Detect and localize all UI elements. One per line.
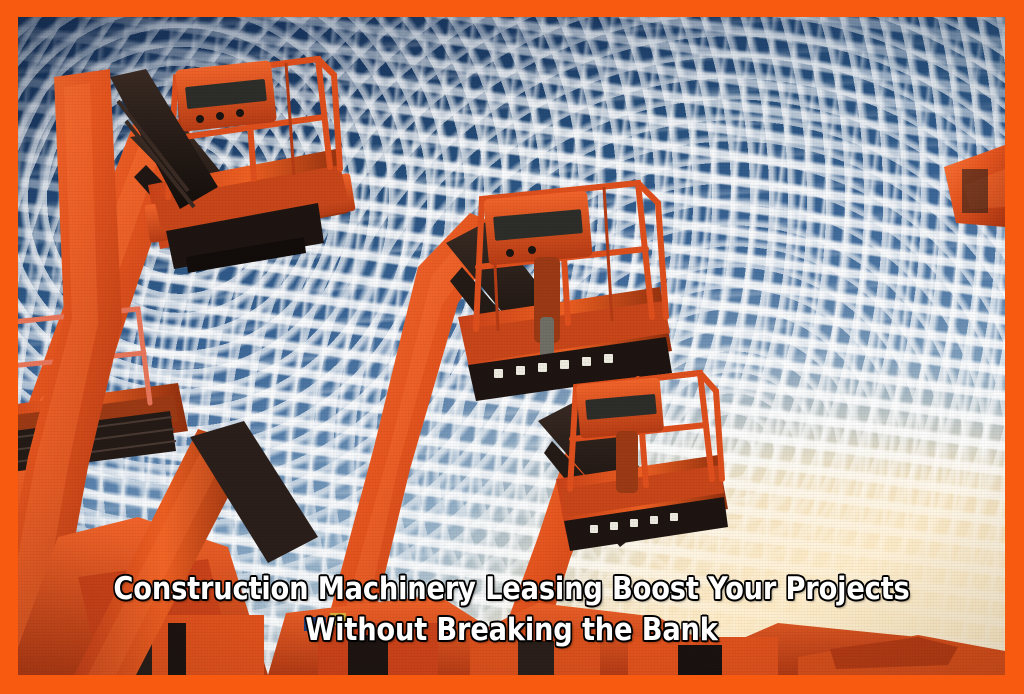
article-hero-banner: Construction Machinery Leasing Boost You… [0,0,1024,694]
hero-photo: Construction Machinery Leasing Boost You… [18,17,1005,675]
machinery-foreground-bottom [268,595,1005,675]
banner-border-bottom [0,675,1024,694]
boom-lift-machinery-layer [18,17,1005,675]
banner-border-top [0,0,1024,17]
boom-arm-right-edge [944,145,1005,227]
banner-border-left [0,0,18,694]
banner-border-right [1005,0,1024,694]
